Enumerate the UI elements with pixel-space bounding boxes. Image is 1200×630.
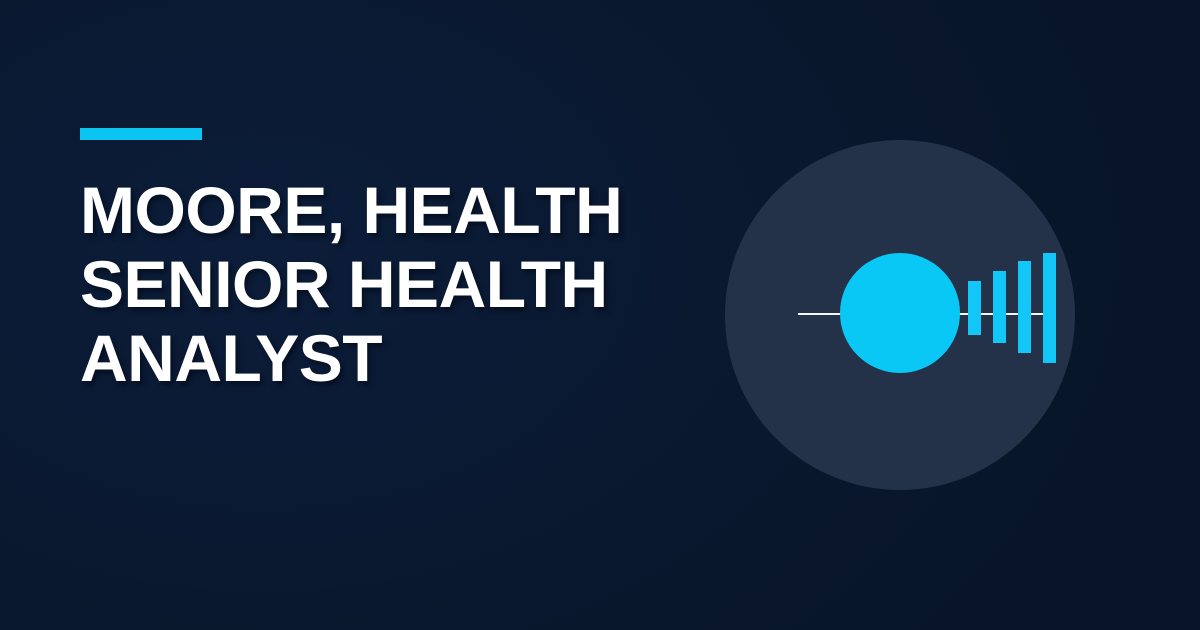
bar-4 bbox=[1043, 253, 1056, 363]
bar-3 bbox=[1018, 261, 1031, 353]
card-content: MOORE, HEALTH SENIOR HEALTH ANALYST bbox=[80, 128, 870, 396]
page-title: MOORE, HEALTH SENIOR HEALTH ANALYST bbox=[80, 174, 840, 396]
social-card: MOORE, HEALTH SENIOR HEALTH ANALYST bbox=[0, 0, 1200, 630]
accent-rule bbox=[80, 128, 202, 140]
bar-2 bbox=[993, 271, 1006, 343]
bar-1 bbox=[968, 281, 981, 335]
emblem-bar-chart-icon bbox=[968, 253, 1056, 373]
